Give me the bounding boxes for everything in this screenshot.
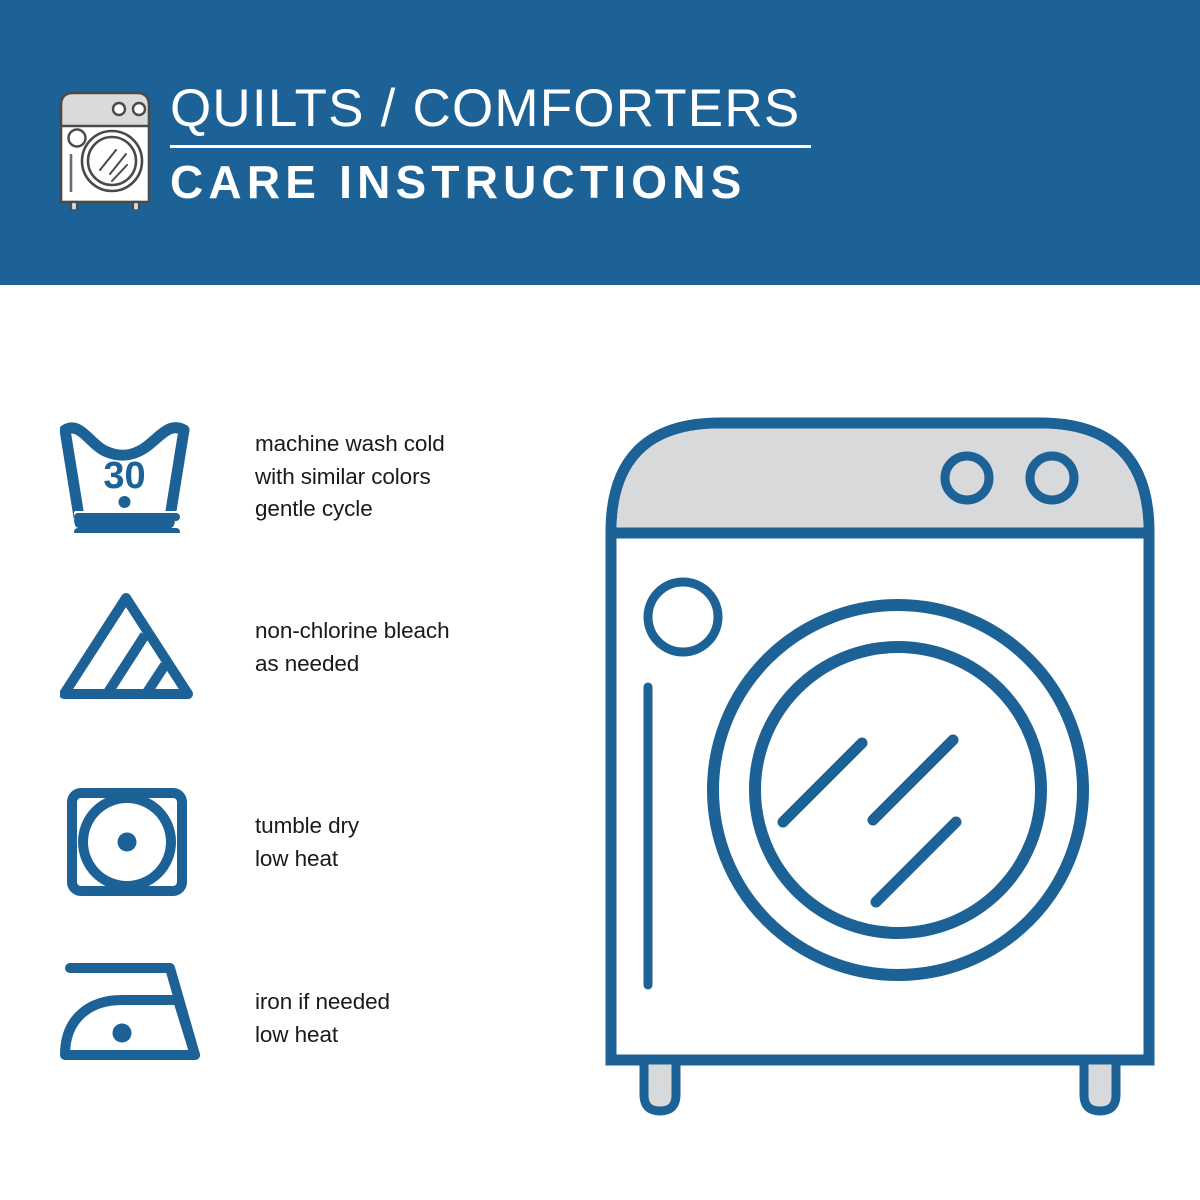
page-title: QUILTS / COMFORTERS bbox=[170, 78, 830, 140]
non-chlorine-bleach-triangle-icon bbox=[60, 590, 195, 710]
page-subtitle: CARE INSTRUCTIONS bbox=[170, 155, 830, 209]
title-divider bbox=[170, 145, 811, 148]
care-instruction-label: non-chlorine bleach as needed bbox=[255, 615, 449, 680]
tumble-dry-square-icon bbox=[60, 785, 195, 905]
svg-text:30: 30 bbox=[103, 455, 145, 497]
care-instruction-label: machine wash cold with similar colors ge… bbox=[255, 428, 445, 526]
iron-icon bbox=[60, 958, 200, 1073]
front-load-washing-machine-illustration bbox=[600, 405, 1160, 1120]
machine-wash-basin-icon: 30 bbox=[60, 418, 195, 538]
washing-machine-icon bbox=[55, 82, 160, 210]
header-banner: QUILTS / COMFORTERS CARE INSTRUCTIONS bbox=[0, 0, 1200, 285]
care-instruction-label: iron if needed low heat bbox=[255, 986, 390, 1051]
header-title-block: QUILTS / COMFORTERS CARE INSTRUCTIONS bbox=[170, 78, 830, 209]
care-instructions-page: QUILTS / COMFORTERS CARE INSTRUCTIONS 30… bbox=[0, 0, 1200, 1200]
care-instruction-label: tumble dry low heat bbox=[255, 810, 359, 875]
